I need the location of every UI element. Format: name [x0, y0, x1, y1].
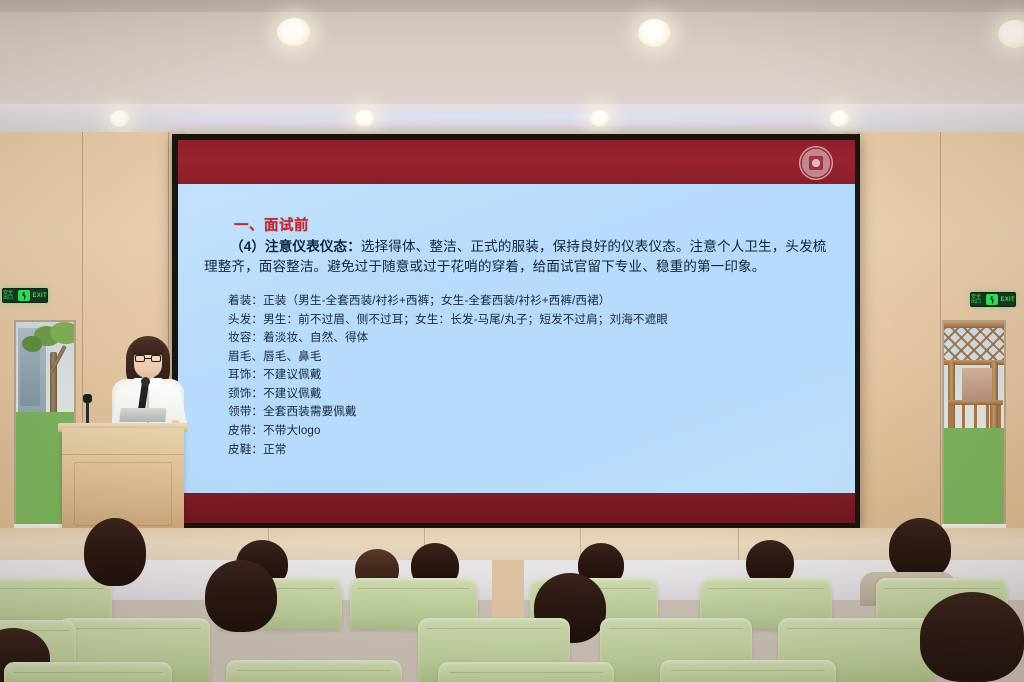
seat	[660, 660, 836, 682]
ceiling-cove-light-strip	[0, 104, 1024, 134]
list-item: 耳饰：不建议佩戴	[228, 366, 831, 385]
audience-head	[889, 518, 951, 580]
running-man-icon	[986, 294, 998, 305]
slide-paragraph-lead: （4）注意仪表仪态：	[230, 239, 361, 254]
exit-sign-left-cn: 安全出口	[3, 291, 16, 301]
running-man-icon	[18, 290, 30, 301]
lectern-laptop	[119, 408, 166, 422]
screen-inner-frame: 一、面试前 （4）注意仪表仪态：选择得体、整洁、正式的服装，保持良好的仪表仪态。…	[178, 140, 855, 523]
ceiling-downlight	[998, 20, 1024, 48]
slide-paragraph: （4）注意仪表仪态：选择得体、整洁、正式的服装，保持良好的仪表仪态。注意个人卫生…	[204, 237, 831, 276]
lecture-hall-photo: 安全出口 EXIT 安全出口 EXIT 一、面试前 （4）注意仪表仪态：选择得体…	[0, 0, 1024, 682]
exit-sign-right-cn: 安全出口	[971, 295, 984, 305]
glasses-icon	[135, 355, 161, 362]
slide-bullet-list: 着装：正装（男生-全套西装/衬衫+西裤；女生-全套西装/衬衫+西裤/西裙） 头发…	[228, 292, 831, 459]
pergola-lattice	[944, 326, 1004, 360]
ceiling-downlight	[110, 110, 130, 127]
ceiling-downlight	[590, 110, 610, 127]
presenter-fringe	[131, 340, 165, 355]
university-seal-icon	[799, 146, 833, 180]
seat	[4, 662, 172, 682]
exit-sign-left-word: EXIT	[32, 293, 47, 299]
slide-bottom-band	[178, 493, 855, 523]
exit-sign-right-word: EXIT	[1000, 297, 1015, 303]
audience-head	[84, 518, 146, 586]
list-item: 眉毛、唇毛、鼻毛	[228, 348, 831, 367]
list-item: 领带：全套西装需要佩戴	[228, 403, 831, 422]
list-item: 颈饰：不建议佩戴	[228, 385, 831, 404]
ceiling-downlight	[638, 19, 671, 47]
list-item: 着装：正装（男生-全套西装/衬衫+西裤；女生-全套西装/衬衫+西裤/西裙）	[228, 292, 831, 311]
list-item: 头发：男生：前不过眉、侧不过耳；女生：长发-马尾/丸子；短发不过肩；刘海不遮眼	[228, 311, 831, 330]
ceiling-downlight	[830, 110, 850, 127]
slide-heading: 一、面试前	[234, 214, 831, 235]
list-item: 妆容：着淡妆、自然、得体	[228, 329, 831, 348]
list-item: 皮鞋：正常	[228, 441, 831, 460]
projection-screen: 一、面试前 （4）注意仪表仪态：选择得体、整洁、正式的服装，保持良好的仪表仪态。…	[172, 134, 860, 528]
seat	[226, 660, 402, 682]
audience-head	[205, 560, 277, 632]
pergola-beam	[944, 322, 1004, 328]
ceiling-downlight	[355, 110, 375, 127]
seat	[438, 662, 614, 682]
audience-head	[920, 592, 1024, 682]
list-item: 皮带：不带大logo	[228, 422, 831, 441]
lectern	[62, 428, 184, 532]
window-right	[942, 320, 1006, 528]
slide-top-band	[178, 140, 855, 184]
exit-sign-right: 安全出口 EXIT	[970, 292, 1016, 307]
exit-sign-left: 安全出口 EXIT	[2, 288, 48, 303]
presentation-slide: 一、面试前 （4）注意仪表仪态：选择得体、整洁、正式的服装，保持良好的仪表仪态。…	[178, 184, 855, 493]
ceiling-downlight	[277, 18, 311, 46]
ceiling-main-surface	[0, 12, 1024, 108]
